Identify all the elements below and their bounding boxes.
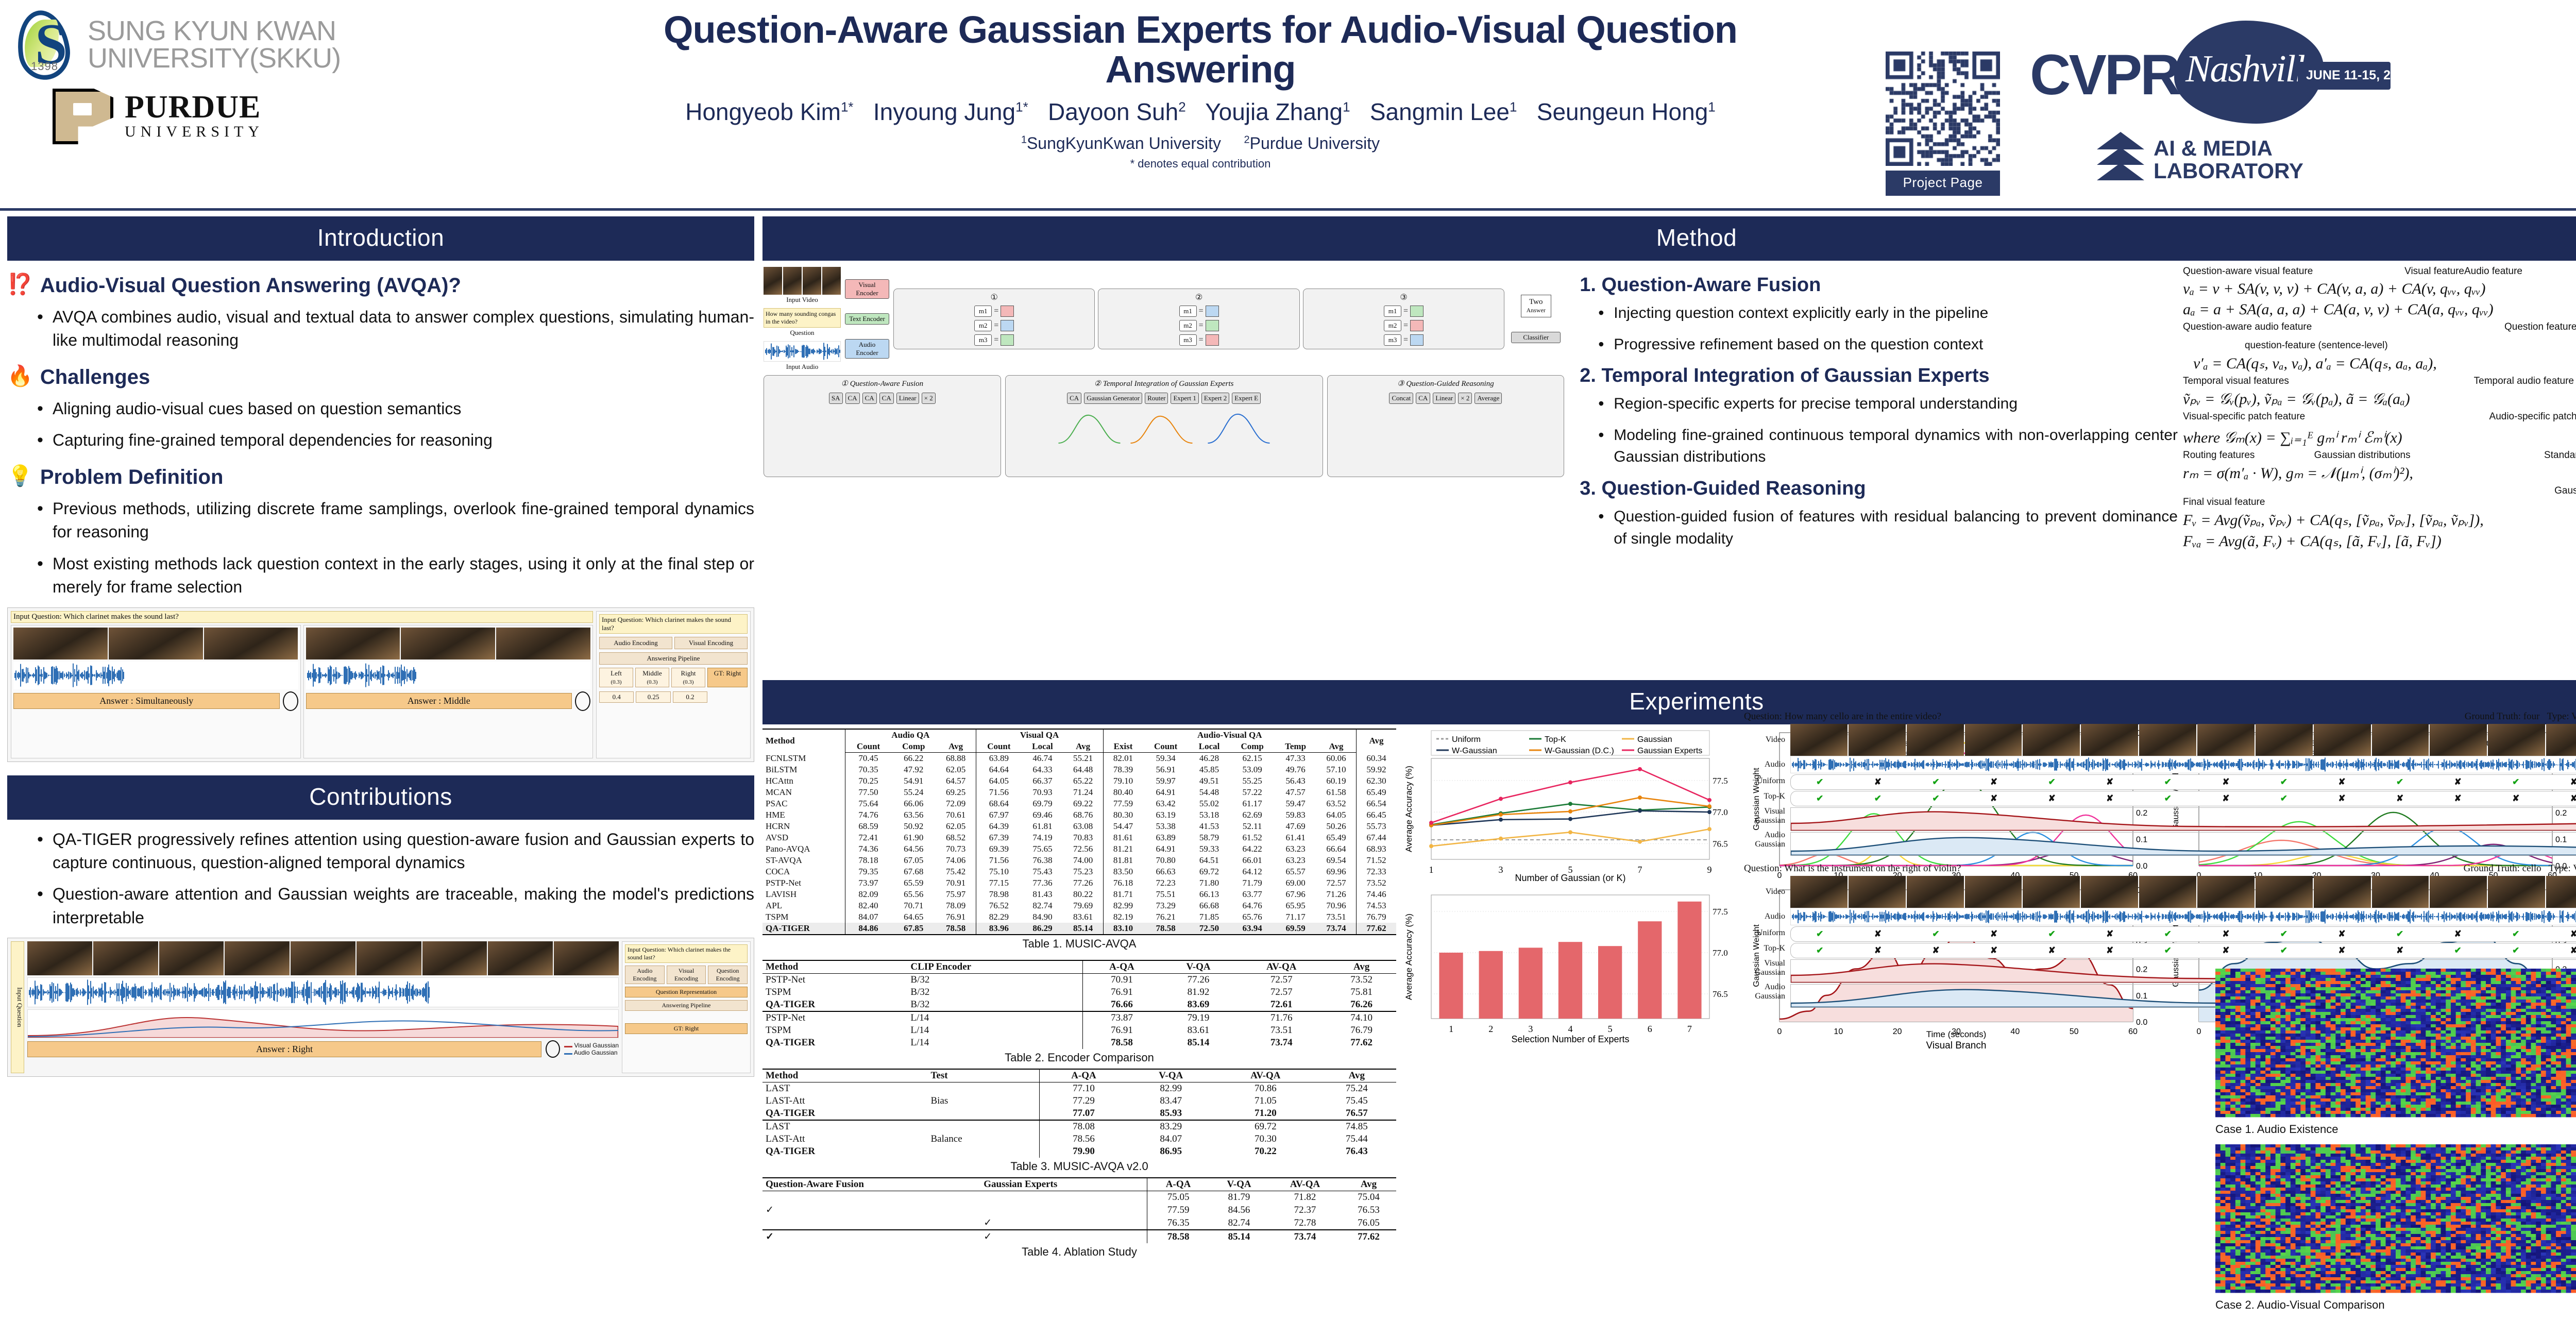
author: Inyoung Jung1*	[873, 98, 1028, 125]
lab-line1: AI & MEDIA	[2154, 137, 2303, 160]
check-icon: ✔	[2139, 793, 2197, 804]
col-gaussian-experts: Gaussian Experts	[980, 1178, 1147, 1191]
cell: 66.22	[891, 753, 936, 765]
cell: 80.40	[1103, 787, 1143, 798]
equation-gaussian-mixture: where 𝒢ₘ(x) = ∑ᵢ₌₁ᴱ gₘⁱ rₘⁱ ℰₘⁱ(x)	[2183, 429, 2576, 447]
row-sublabel: ✓	[980, 1230, 1147, 1243]
visual-gaussian-strip	[1790, 807, 2576, 831]
cell: 61.58	[1316, 787, 1356, 798]
feature-chip	[1206, 334, 1219, 346]
cell: 73.52	[1327, 974, 1396, 987]
cell: 56.43	[1275, 775, 1316, 787]
feature-chip	[1206, 320, 1219, 331]
teaser-pipeline-panel: Input Question: Which clarinet makes the…	[596, 611, 751, 758]
cell: 76.52	[976, 900, 1022, 911]
cell: 75.65	[1022, 843, 1063, 855]
equation-vq-prime: v′ₐ = CA(qₛ, vₐ, vₐ), a′ₐ = CA(qₛ, aₐ, a…	[2193, 354, 2576, 373]
feature-chip	[1410, 306, 1423, 317]
left-column: Introduction ⁉️ Audio-Visual Question An…	[7, 216, 754, 1077]
intro-heading: Problem Definition	[40, 466, 224, 489]
col-method: Method	[762, 729, 845, 753]
cell: 70.91	[936, 877, 976, 889]
cell: 68.64	[976, 798, 1022, 809]
cell: 64.05	[976, 775, 1022, 787]
table-row: LAVISH82.0965.5675.9778.9881.4380.2281.7…	[762, 889, 1396, 900]
cell: 70.91	[1083, 974, 1161, 987]
cell: 57.10	[1316, 764, 1356, 775]
diagram-box: Classifier	[1511, 332, 1561, 343]
header-divider	[0, 208, 2576, 211]
cell: 63.19	[1143, 809, 1188, 821]
eq-label-vis-patch: Visual-specific patch feature Audio-spec…	[2183, 411, 2576, 422]
cell: 64.33	[1022, 764, 1063, 775]
topk-row: ✔✘✘✘✘✘✔✘✔✘✘✔✔✘	[1790, 943, 2576, 958]
table-row: LAST 77.1082.9970.8675.24	[762, 1082, 1396, 1095]
cell: 66.37	[1022, 775, 1063, 787]
method-point-bullets: Question-guided fusion of features with …	[1597, 506, 2178, 550]
row-sublabel: B/32	[907, 999, 1082, 1011]
video-frame	[2546, 724, 2576, 756]
video-frame	[2197, 724, 2255, 756]
cell: 69.46	[1022, 809, 1063, 821]
cell: 69.25	[936, 787, 976, 798]
row-method: AVSD	[762, 832, 845, 843]
cell: 64.51	[1189, 855, 1230, 866]
video-frame	[2430, 876, 2487, 908]
cell: 55.21	[1063, 753, 1103, 765]
cell: 63.89	[976, 753, 1022, 765]
cell: 78.58	[1143, 923, 1188, 935]
teaser-question: Input Question: Which clarinet makes the…	[11, 611, 593, 623]
intro-bullets: Previous methods, utilizing discrete fra…	[35, 497, 754, 599]
cell: 65.95	[1275, 900, 1316, 911]
cell: 78.39	[1103, 764, 1143, 775]
cell: 79.90	[1039, 1145, 1128, 1158]
diagram-box: Audio Encoder	[845, 339, 889, 359]
cell: 71.05	[1214, 1095, 1317, 1107]
svg-text:0: 0	[1777, 1027, 1782, 1036]
stage-detail-title: ② Temporal Integration of Gaussian Exper…	[1009, 379, 1319, 388]
cell: 74.06	[936, 855, 976, 866]
cell: 78.58	[1147, 1230, 1209, 1243]
cell: 61.52	[1230, 832, 1275, 843]
equation-final-av: Fᵥₐ = Avg(ã, Fᵥ) + CA(qₛ, [ã, Fᵥ], [ã, F…	[2183, 532, 2576, 550]
row-label: QA-TIGER	[762, 999, 907, 1011]
project-page-qr[interactable]: Project Page	[1886, 52, 2000, 196]
teaser-panel: Answer : Middle	[303, 625, 594, 758]
row-method: QA-TIGER	[762, 923, 845, 935]
cell: 65.56	[891, 889, 936, 900]
row-method: APL	[762, 900, 845, 911]
eq-label-gauss-dist: Gaussian distributions	[2314, 450, 2411, 461]
row-label-video: Video	[1744, 876, 1788, 908]
cell: 55.73	[1356, 821, 1396, 832]
cell: 63.77	[1230, 889, 1275, 900]
col-a-qa: A-QA	[1039, 1069, 1128, 1082]
cross-icon: ✘	[2371, 793, 2429, 804]
gaussian-overlay	[28, 1010, 618, 1038]
cell: 81.61	[1103, 832, 1143, 843]
cell: 61.41	[1275, 832, 1316, 843]
check-icon: ✔	[1907, 793, 1965, 804]
diagram-box: SA	[829, 393, 843, 404]
cross-icon: ✘	[2197, 929, 2255, 939]
table-row: LAST-Att Balance78.5684.0770.3075.44	[762, 1133, 1396, 1145]
eq-label-std: Standard deviations	[2544, 450, 2576, 461]
cell: 70.80	[1143, 855, 1188, 866]
row-label: PSTP-Net	[762, 1011, 907, 1024]
cell: 70.86	[1214, 1082, 1317, 1095]
svg-text:20: 20	[1893, 1027, 1902, 1036]
col-clip-encoder: CLIP Encoder	[907, 960, 1082, 974]
table-row: BiLSTM70.3547.9262.0564.6464.3364.4878.3…	[762, 764, 1396, 775]
table-row: QA-TIGER84.8667.8578.5883.9686.2985.1483…	[762, 923, 1396, 935]
cell: 41.53	[1189, 821, 1230, 832]
cell: 64.91	[1143, 787, 1188, 798]
video-frame	[2197, 876, 2255, 908]
cross-icon: ✘	[2371, 945, 2429, 956]
stage-panel-3: ③ m1= m2= m3=	[1303, 289, 1504, 349]
video-frame	[496, 628, 590, 659]
cell: 75.42	[936, 866, 976, 877]
bullet: Most existing methods lack question cont…	[35, 552, 754, 599]
col-test: Test	[927, 1069, 1039, 1082]
check-icon: ✔	[2139, 945, 2197, 956]
stage-number: ①	[991, 292, 998, 302]
cell: 78.58	[1083, 1037, 1161, 1049]
video-frame	[783, 267, 802, 295]
check-icon: ✔	[2487, 777, 2545, 787]
visual-encoding-box: Visual Encoding	[667, 966, 706, 984]
eq-label-audio: Audio feature	[2464, 266, 2522, 277]
cell: 78.98	[976, 889, 1022, 900]
col-avg: Avg	[936, 741, 976, 753]
cell: 47.69	[1275, 821, 1316, 832]
cross-icon: ✘	[2023, 793, 2081, 804]
video-frame	[2139, 724, 2196, 756]
check-icon: ✔	[2255, 945, 2313, 956]
row-sublabel: ✓	[980, 1216, 1147, 1230]
author: Sangmin Lee1	[1370, 98, 1517, 125]
cell: 75.24	[1317, 1082, 1396, 1095]
video-frame	[1790, 876, 1848, 908]
diagram-box: Expert 2	[1201, 393, 1229, 404]
row-sublabel: B/32	[907, 986, 1082, 999]
svg-text:3: 3	[1499, 865, 1503, 875]
cell: 71.85	[1189, 911, 1230, 923]
video-frame	[2023, 724, 2080, 756]
method-point-heading-1: 1. Question-Aware Fusion	[1580, 274, 2178, 296]
lab-line2: LABORATORY	[2154, 160, 2303, 182]
bar	[1598, 946, 1622, 1019]
col-comp: Comp	[891, 741, 936, 753]
cell: 73.74	[1236, 1037, 1327, 1049]
col-avg: Avg	[1316, 741, 1356, 753]
cell: 67.44	[1356, 832, 1396, 843]
row-label: TSPM	[762, 1024, 907, 1037]
diagram-box: m2	[1384, 320, 1401, 331]
heatmap	[2215, 969, 2576, 1118]
svg-text:77.5: 77.5	[1713, 776, 1728, 786]
check-icon: ✔	[2139, 929, 2197, 939]
col-av-qa: AV-QA	[1236, 960, 1327, 974]
cell: 74.00	[1063, 855, 1103, 866]
cross-icon: ✘	[1965, 793, 2023, 804]
svg-text:W-Gaussian (D.C.): W-Gaussian (D.C.)	[1545, 747, 1614, 755]
cell: 64.22	[1230, 843, 1275, 855]
cell: 77.10	[1039, 1082, 1128, 1095]
cell: 70.71	[891, 900, 936, 911]
teaser-figure: Input Question: Which clarinet makes the…	[7, 607, 754, 762]
exclamation-question-icon: ⁉️	[7, 274, 33, 295]
row-label: QA-TIGER	[762, 1107, 927, 1120]
cell: 84.07	[1128, 1133, 1214, 1145]
ground-truth-box: GT: Right	[625, 1023, 748, 1034]
cell: 76.21	[1143, 911, 1188, 923]
cell: 70.25	[845, 775, 891, 787]
cell: 63.89	[1143, 832, 1188, 843]
svg-text:40: 40	[2010, 1027, 2020, 1036]
table-row: APL82.4070.7178.0976.5282.7479.6982.9973…	[762, 900, 1396, 911]
cell: 70.35	[845, 764, 891, 775]
feature-chip	[1001, 306, 1014, 317]
method-point-heading-2: 2. Temporal Integration of Gaussian Expe…	[1580, 365, 2178, 387]
table-row: HCRN68.5950.9262.0564.3961.8163.0854.475…	[762, 821, 1396, 832]
diagram-box: m1	[1179, 306, 1197, 317]
row-sublabel: Balance	[927, 1133, 1039, 1145]
stage-detail-2: ② Temporal Integration of Gaussian Exper…	[1005, 375, 1323, 477]
bullet: QA-TIGER progressively refines attention…	[35, 828, 754, 875]
video-frame	[13, 628, 108, 659]
cell: 67.97	[976, 809, 1022, 821]
cell: 46.28	[1189, 753, 1230, 765]
section-header-contributions: Contributions	[7, 775, 754, 820]
cvpr-wordmark: CVPR	[2030, 42, 2179, 108]
cell: 82.09	[845, 889, 891, 900]
cvpr-logo: CVPR Nashville JUNE 11-15, 2025	[2030, 15, 2421, 144]
video-frame	[488, 941, 553, 975]
cell: 71.56	[976, 787, 1022, 798]
svg-text:Number of Gaussian (or K): Number of Gaussian (or K)	[1515, 873, 1625, 883]
diagram-box: CA	[1416, 393, 1430, 404]
cross-icon: ✘	[1965, 777, 2023, 787]
table-caption: Table 4. Ablation Study	[762, 1245, 1396, 1259]
svg-text:Average Accuracy (%): Average Accuracy (%)	[1404, 766, 1414, 852]
check-icon: ✔	[1907, 777, 1965, 787]
col-question-aware-fusion: Question-Aware Fusion	[762, 1178, 980, 1191]
row-method: COCA	[762, 866, 845, 877]
cross-icon: ✘	[2023, 945, 2081, 956]
intro-bullets: AVQA combines audio, visual and textual …	[35, 306, 754, 352]
row-sublabel: L/14	[907, 1011, 1082, 1024]
question-representation-box: Question Representation	[625, 987, 748, 997]
option-box: Middle(0.3)	[635, 668, 669, 687]
cell: 81.71	[1103, 889, 1143, 900]
cell: 78.58	[936, 923, 976, 935]
topk-row: ✔✔✔✘✘✘✔✘✔✘✘✘✘✘	[1790, 791, 2576, 806]
results-table: MethodTestA-QAV-QAAV-QAAvg LAST 77.1082.…	[762, 1069, 1396, 1158]
cell: 81.79	[1209, 1191, 1269, 1204]
cell: 74.46	[1356, 889, 1396, 900]
row-label	[762, 1191, 980, 1204]
diagram-box: m2	[974, 320, 992, 331]
cell: 67.39	[976, 832, 1022, 843]
table-row: PSTP-Net73.9765.5970.9177.1577.3677.2676…	[762, 877, 1396, 889]
video-frame	[93, 941, 158, 975]
table-row: 75.0581.7971.8275.04	[762, 1191, 1396, 1204]
bullet: Question-aware attention and Gaussian we…	[35, 883, 754, 929]
cell: 69.39	[976, 843, 1022, 855]
cell: 75.45	[1317, 1095, 1396, 1107]
cell: 63.52	[1316, 798, 1356, 809]
row-sublabel	[927, 1082, 1039, 1095]
svg-text:0.0: 0.0	[2136, 1018, 2147, 1027]
cell: 73.29	[1143, 900, 1188, 911]
question-text: How many sounding congas in the video?	[764, 308, 841, 328]
qr-code-icon[interactable]	[1886, 52, 2000, 166]
question-encoding-box: Question Encoding	[708, 966, 748, 984]
cell: 64.05	[1316, 809, 1356, 821]
row-label: ✓	[762, 1230, 980, 1243]
cell: 74.36	[845, 843, 891, 855]
video-frame	[822, 267, 841, 295]
row-label: LAST-Att	[762, 1095, 927, 1107]
cell: 64.91	[1143, 843, 1188, 855]
col-method: Method	[762, 960, 907, 974]
feature-chip	[1410, 320, 1423, 331]
cell: 72.23	[1143, 877, 1188, 889]
cell: 63.23	[1275, 843, 1316, 855]
diagram-box: Concat	[1389, 393, 1413, 404]
stage-detail-1: ① Question-Aware Fusion SACACACALinear× …	[764, 375, 1001, 477]
cell: 65.76	[1230, 911, 1275, 923]
cell: 72.56	[1063, 843, 1103, 855]
cell: 64.48	[1063, 764, 1103, 775]
cell: 59.47	[1275, 798, 1316, 809]
table-row: QA-TIGER 79.9086.9570.2276.43	[762, 1145, 1396, 1158]
option-box: Left(0.3)	[599, 668, 633, 687]
cell: 77.62	[1341, 1230, 1396, 1243]
table-caption: Table 1. MUSIC-AVQA	[762, 937, 1396, 951]
check-icon: ✔	[2487, 929, 2545, 939]
cell: 76.43	[1317, 1145, 1396, 1158]
diagram-box: CA	[1067, 393, 1081, 404]
cell: 70.96	[1316, 900, 1356, 911]
cell: 65.49	[1316, 832, 1356, 843]
cross-icon: ✘	[2545, 945, 2576, 956]
architecture-diagram: Input Video How many sounding congas in …	[762, 266, 1565, 559]
method-point-bullets: Injecting question context explicitly ea…	[1597, 302, 2178, 356]
contributions-figure: Input Question Answer : Right Visual Gau…	[7, 938, 754, 1077]
cell: 82.29	[976, 911, 1022, 923]
diagram-box: Gaussian Generator	[1084, 393, 1142, 404]
cell: 46.74	[1022, 753, 1063, 765]
cell: 79.35	[845, 866, 891, 877]
intro-block-2: 💡 Problem Definition	[7, 466, 754, 489]
cell: 64.39	[976, 821, 1022, 832]
video-frame	[1849, 876, 1906, 908]
svg-text:9: 9	[1707, 865, 1712, 875]
cross-icon: ✘	[2313, 793, 2371, 804]
cross-icon: ✘	[2197, 945, 2255, 956]
cross-icon: ✘	[2487, 793, 2545, 804]
intro-block-1: 🔥 Challenges	[7, 366, 754, 389]
bullet: Modeling fine-grained continuous tempora…	[1597, 425, 2178, 468]
cell: 73.52	[1356, 877, 1396, 889]
bullet: Aligning audio-visual cues based on ques…	[35, 397, 754, 420]
stage-detail-title: ③ Question-Guided Reasoning	[1331, 379, 1561, 388]
table-row: QA-TIGER L/1478.5885.1473.7477.62	[762, 1037, 1396, 1049]
cell: 82.99	[1103, 900, 1143, 911]
cell: 69.59	[1275, 923, 1316, 935]
cell: 66.01	[1230, 855, 1275, 866]
cell: 68.88	[936, 753, 976, 765]
cell: 68.59	[845, 821, 891, 832]
cell: 74.10	[1327, 1011, 1396, 1024]
row-label: QA-TIGER	[762, 1145, 927, 1158]
cell: 84.56	[1209, 1204, 1269, 1216]
title-block: Question-Aware Gaussian Experts for Audi…	[567, 10, 1834, 171]
eq-label-routing: Routing features Gaussian distributions …	[2183, 450, 2576, 461]
col-a-qa: A-QA	[1083, 960, 1161, 974]
video-frame	[554, 941, 619, 975]
cell: 77.26	[1161, 974, 1236, 987]
diagram-box: Router	[1145, 393, 1168, 404]
cell: 71.76	[1236, 1011, 1327, 1024]
check-icon: ✔	[2139, 777, 2197, 787]
cell: 61.90	[891, 832, 936, 843]
video-frame	[357, 941, 421, 975]
skku-line1: SUNG KYUN KWAN	[88, 18, 341, 45]
cell: 60.19	[1316, 775, 1356, 787]
intro-block-0: ⁉️ Audio-Visual Question Answering (AVQA…	[7, 274, 754, 297]
group-av-qa: Audio-Visual QA	[1103, 729, 1356, 741]
row-method: HME	[762, 809, 845, 821]
equation-aq: aₐ = a + SA(a, a, a) + CA(a, v, v) + CA(…	[2183, 301, 2576, 318]
cell: 81.92	[1161, 986, 1236, 999]
cell: 68.93	[1356, 843, 1396, 855]
table-row: LAST-Att Bias77.2983.4771.0575.45	[762, 1095, 1396, 1107]
check-icon: ✔	[2371, 929, 2429, 939]
method-equations: Question-aware visual feature Audio feat…	[2183, 266, 2576, 559]
author: Hongyeob Kim1*	[685, 98, 853, 125]
video-frame	[2314, 724, 2371, 756]
diagram-box: Average	[1475, 393, 1502, 404]
section-header-introduction: Introduction	[7, 216, 754, 261]
video-frame	[1849, 724, 1906, 756]
cell: 64.65	[891, 911, 936, 923]
cell: 47.33	[1275, 753, 1316, 765]
cell: 61.81	[1022, 821, 1063, 832]
bar-chart-svg: 76.5 77.0 77.5 1 2 3 4 5 6 7Average Accu…	[1403, 891, 1733, 1045]
method-column: Method Input Video How many sounding con…	[762, 216, 2576, 559]
cell: 77.59	[1103, 798, 1143, 809]
cell: 72.78	[1269, 1216, 1341, 1230]
case-panel-2: Case 2. Audio-Visual Comparison	[2215, 1144, 2576, 1312]
row-sublabel	[927, 1120, 1039, 1133]
table-row: AVSD72.4161.9068.5267.3974.1970.8381.616…	[762, 832, 1396, 843]
svg-text:Visual Branch: Visual Branch	[1926, 1040, 1987, 1051]
col-count: Count	[845, 741, 891, 753]
cell: 83.61	[1161, 1024, 1236, 1037]
diagram-box: m1	[1384, 306, 1401, 317]
cell: 71.56	[976, 855, 1022, 866]
video-frame	[2256, 724, 2313, 756]
svg-text:77.5: 77.5	[1713, 907, 1728, 917]
table-row: TSPM B/3276.9181.9272.5775.81	[762, 986, 1396, 999]
case-study-panels: Case 1. Audio Existence Case 2. Audio-Vi…	[2215, 969, 2576, 1320]
cell: 54.48	[1189, 787, 1230, 798]
